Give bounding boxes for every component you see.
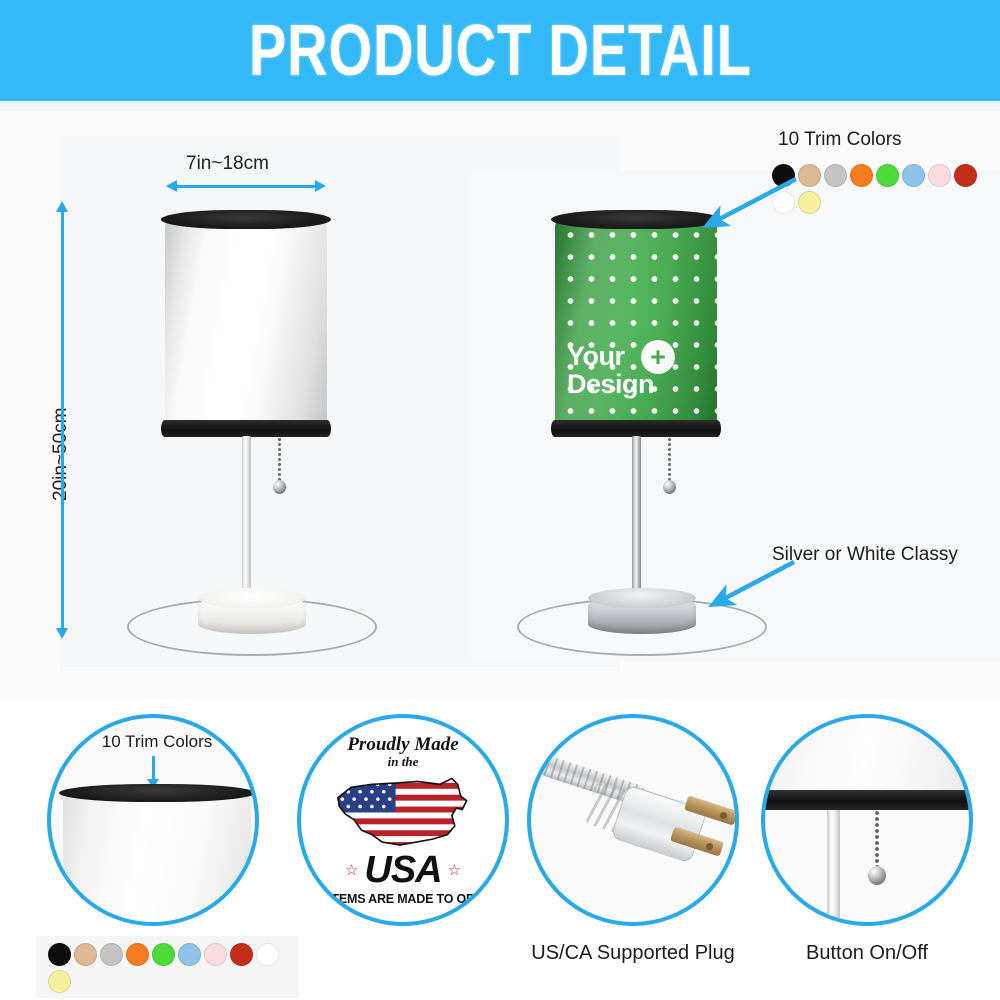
trim-colors-callout-label: 10 Trim Colors (778, 129, 902, 151)
shade-top-trim (161, 210, 331, 229)
design-line-2: Design (567, 370, 717, 398)
feature-panels: 10 Trim Colors Proudly Made in the (0, 700, 1000, 1000)
silver-lamp-base (588, 596, 696, 634)
trim-swatch-gray[interactable] (100, 943, 123, 966)
trim-swatch-orange[interactable] (126, 943, 149, 966)
pull-chain-bead-closeup[interactable] (868, 866, 886, 885)
plug-circle (527, 714, 739, 926)
base-finish-arrow-icon (700, 554, 800, 616)
usa-badge-line-1: Proudly Made (347, 734, 458, 756)
trim-swatch-green[interactable] (152, 943, 175, 966)
trim-swatch-gray[interactable] (824, 164, 847, 187)
page-title: PRODUCT DETAIL (249, 15, 752, 87)
main-stage: 7in~18cm 20in~50cm Your Desi (0, 111, 1000, 700)
trim-swatch-red[interactable] (230, 943, 253, 966)
shade-trim-closeup (59, 784, 255, 802)
plug-caption: US/CA Supported Plug (508, 942, 758, 965)
trim-swatch-red[interactable] (954, 164, 977, 187)
made-in-usa-circle: Proudly Made in the (297, 714, 509, 926)
usa-badge-big-text: USA (364, 851, 441, 889)
trim-swatch-pink[interactable] (204, 943, 227, 966)
feature-button-on-off: Button On/Off (742, 714, 992, 926)
trim-colors-circle: 10 Trim Colors (47, 714, 259, 926)
product-detail-infographic: PRODUCT DETAIL 7in~18cm 20in~50cm (0, 0, 1000, 1000)
usa-flag-map-icon (329, 771, 477, 851)
trim-swatch-white[interactable] (256, 943, 279, 966)
star-left-icon: ☆ (345, 861, 358, 879)
base-top-face (198, 588, 306, 608)
width-dimension-arrow (176, 185, 316, 188)
feature-plug: US/CA Supported Plug (508, 714, 758, 926)
pull-chain[interactable] (668, 437, 671, 483)
button-on-off-caption: Button On/Off (742, 942, 992, 965)
white-lampshade (165, 218, 327, 430)
trim-swatch-tan[interactable] (74, 943, 97, 966)
width-dimension-label: 7in~18cm (186, 153, 269, 175)
shade-bottom-trim (551, 420, 721, 437)
usa-badge-line-2: in the (388, 754, 419, 770)
base-top-face (588, 588, 696, 608)
white-lamp (165, 206, 335, 636)
shade-bottom-trim (161, 420, 331, 437)
feature-trim-colors: 10 Trim Colors (28, 714, 278, 926)
header-banner: PRODUCT DETAIL (0, 0, 1000, 101)
usa-badge: Proudly Made in the (301, 718, 505, 922)
pull-chain-closeup[interactable] (875, 810, 879, 868)
trim-swatch-light-blue[interactable] (178, 943, 201, 966)
feature-made-in-usa: Proudly Made in the (278, 714, 528, 926)
trim-colors-down-arrow-icon (152, 756, 155, 780)
pull-chain[interactable] (278, 437, 281, 483)
trim-colors-inner-label: 10 Trim Colors (51, 732, 259, 752)
trim-swatch-black[interactable] (48, 943, 71, 966)
banner-divider (0, 101, 1000, 111)
trim-color-swatch-list[interactable] (772, 164, 1000, 218)
pole-closeup (827, 810, 840, 926)
add-design-plus-icon[interactable]: + (641, 340, 675, 374)
bottom-trim-color-swatch-list[interactable] (48, 943, 288, 997)
shade-bottom-closeup (761, 714, 973, 792)
trim-swatch-orange[interactable] (850, 164, 873, 187)
trim-swatch-green[interactable] (876, 164, 899, 187)
height-dimension-arrow (61, 211, 64, 629)
trim-swatch-yellow[interactable] (48, 970, 71, 993)
star-right-icon: ☆ (448, 861, 461, 879)
button-on-off-circle (761, 714, 973, 926)
trim-swatch-pink[interactable] (928, 164, 951, 187)
usa-badge-bottom-text: ALL ITEMS ARE MADE TO ORDER! (301, 892, 504, 906)
white-lamp-base (198, 596, 306, 634)
pull-chain-bead[interactable] (273, 480, 286, 494)
trim-band-closeup (761, 790, 973, 810)
pull-chain-bead[interactable] (663, 480, 676, 494)
trim-swatch-light-blue[interactable] (902, 164, 925, 187)
trim-colors-arrow-icon (692, 173, 802, 235)
shade-gloss (165, 218, 327, 430)
usa-badge-main-row: ☆ USA ☆ (345, 851, 461, 889)
green-lampshade: Your Design + (555, 218, 717, 430)
shade-closeup (63, 796, 251, 926)
